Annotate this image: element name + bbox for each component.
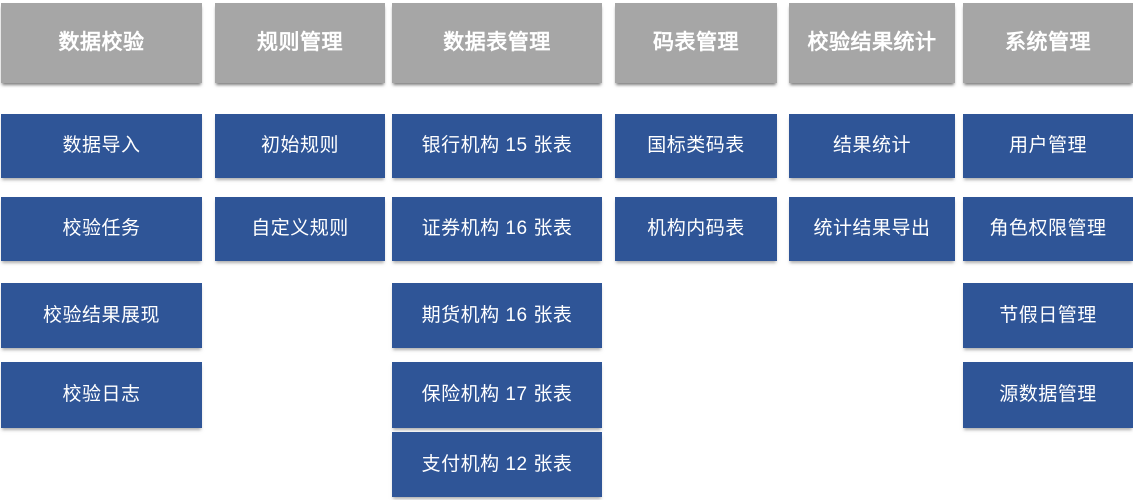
functional-architecture-diagram: 数据校验数据导入校验任务校验结果展现校验日志规则管理初始规则自定义规则数据表管理… (0, 0, 1133, 500)
category-header-rule-management[interactable]: 规则管理 (215, 3, 385, 83)
feature-node[interactable]: 校验日志 (1, 362, 202, 428)
feature-node-label: 统计结果导出 (813, 218, 930, 240)
category-header-data-verification[interactable]: 数据校验 (1, 3, 202, 83)
category-header-label: 规则管理 (257, 31, 343, 55)
feature-node-label: 角色权限管理 (989, 218, 1106, 240)
column-data-table-management: 数据表管理银行机构 15 张表证券机构 16 张表期货机构 16 张表保险机构 … (392, 0, 602, 500)
feature-node-label: 校验任务 (62, 218, 140, 240)
feature-node[interactable]: 初始规则 (215, 114, 385, 178)
category-header-code-table-management[interactable]: 码表管理 (615, 3, 777, 83)
feature-node-label: 支付机构 12 张表 (422, 454, 573, 476)
feature-node[interactable]: 支付机构 12 张表 (392, 432, 602, 497)
feature-node[interactable]: 机构内码表 (615, 197, 777, 261)
feature-node[interactable]: 自定义规则 (215, 197, 385, 261)
feature-node-label: 数据导入 (62, 135, 140, 157)
feature-node[interactable]: 国标类码表 (615, 114, 777, 178)
feature-node[interactable]: 证券机构 16 张表 (392, 197, 602, 261)
category-header-data-table-management[interactable]: 数据表管理 (392, 3, 602, 83)
feature-node-label: 源数据管理 (999, 384, 1097, 406)
feature-node[interactable]: 校验结果展现 (1, 283, 202, 348)
category-header-label: 校验结果统计 (808, 31, 937, 55)
category-header-label: 码表管理 (653, 31, 739, 55)
category-header-verification-result-statistics[interactable]: 校验结果统计 (789, 3, 955, 83)
feature-node[interactable]: 统计结果导出 (789, 197, 955, 261)
feature-node[interactable]: 结果统计 (789, 114, 955, 178)
feature-node[interactable]: 期货机构 16 张表 (392, 283, 602, 348)
category-header-system-management[interactable]: 系统管理 (963, 3, 1133, 83)
category-header-label: 系统管理 (1005, 31, 1091, 55)
feature-node-label: 自定义规则 (251, 218, 349, 240)
column-system-management: 系统管理用户管理角色权限管理节假日管理源数据管理 (963, 0, 1133, 500)
column-rule-management: 规则管理初始规则自定义规则 (215, 0, 385, 500)
feature-node-label: 用户管理 (1009, 135, 1087, 157)
feature-node-label: 初始规则 (261, 135, 339, 157)
feature-node[interactable]: 节假日管理 (963, 283, 1133, 348)
feature-node-label: 结果统计 (833, 135, 911, 157)
feature-node[interactable]: 用户管理 (963, 114, 1133, 178)
feature-node-label: 节假日管理 (999, 305, 1097, 327)
category-header-label: 数据校验 (59, 31, 145, 55)
feature-node-label: 银行机构 15 张表 (422, 135, 573, 157)
feature-node-label: 校验结果展现 (43, 305, 160, 327)
category-header-label: 数据表管理 (443, 31, 551, 55)
feature-node[interactable]: 角色权限管理 (963, 197, 1133, 261)
feature-node[interactable]: 保险机构 17 张表 (392, 362, 602, 428)
column-verification-result-statistics: 校验结果统计结果统计统计结果导出 (789, 0, 955, 500)
feature-node-label: 国标类码表 (647, 135, 745, 157)
feature-node[interactable]: 源数据管理 (963, 362, 1133, 428)
feature-node[interactable]: 银行机构 15 张表 (392, 114, 602, 178)
feature-node-label: 保险机构 17 张表 (422, 384, 573, 406)
feature-node[interactable]: 数据导入 (1, 114, 202, 178)
feature-node-label: 校验日志 (62, 384, 140, 406)
feature-node-label: 证券机构 16 张表 (422, 218, 573, 240)
column-code-table-management: 码表管理国标类码表机构内码表 (615, 0, 777, 500)
feature-node-label: 期货机构 16 张表 (422, 305, 573, 327)
column-data-verification: 数据校验数据导入校验任务校验结果展现校验日志 (1, 0, 202, 500)
feature-node[interactable]: 校验任务 (1, 197, 202, 261)
feature-node-label: 机构内码表 (647, 218, 745, 240)
